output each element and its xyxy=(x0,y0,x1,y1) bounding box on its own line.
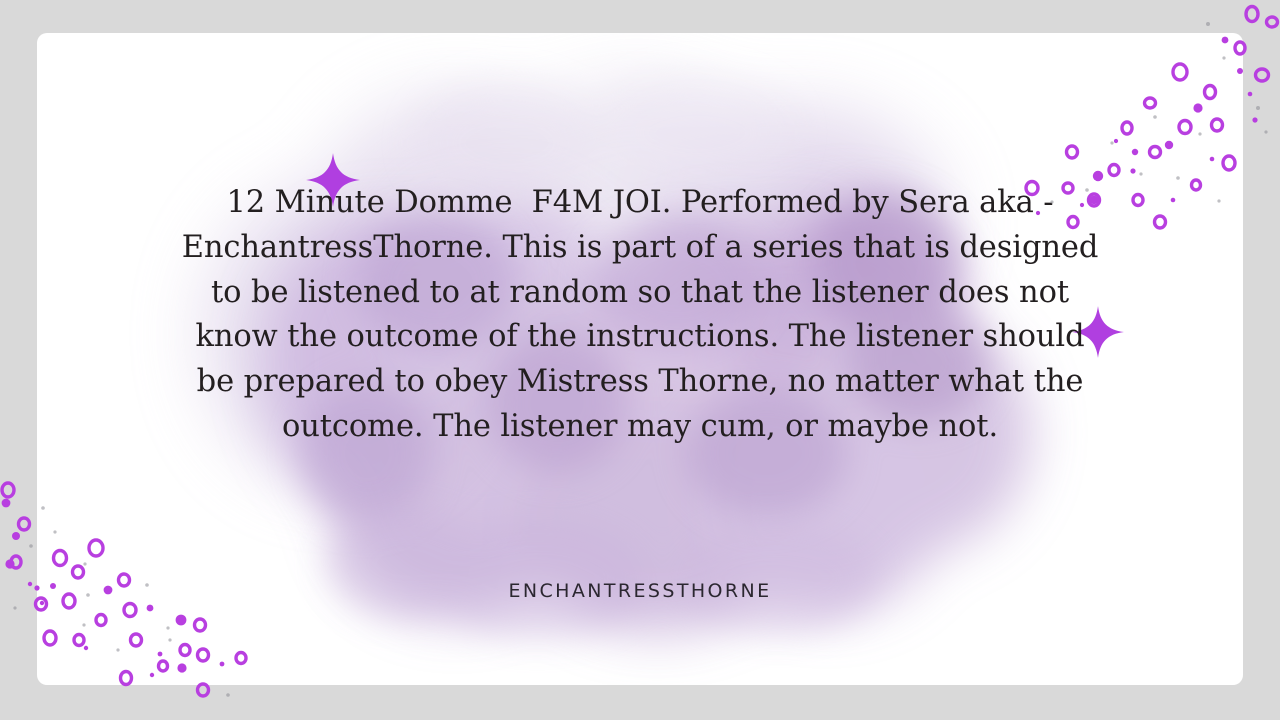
brand-name: ENCHANTRESSTHORNE xyxy=(37,580,1243,602)
description-text: 12 Minute Domme F4M JOI. Performed by Se… xyxy=(177,181,1103,450)
slide-canvas: 12 Minute Domme F4M JOI. Performed by Se… xyxy=(0,0,1280,720)
content-card: 12 Minute Domme F4M JOI. Performed by Se… xyxy=(37,33,1243,685)
